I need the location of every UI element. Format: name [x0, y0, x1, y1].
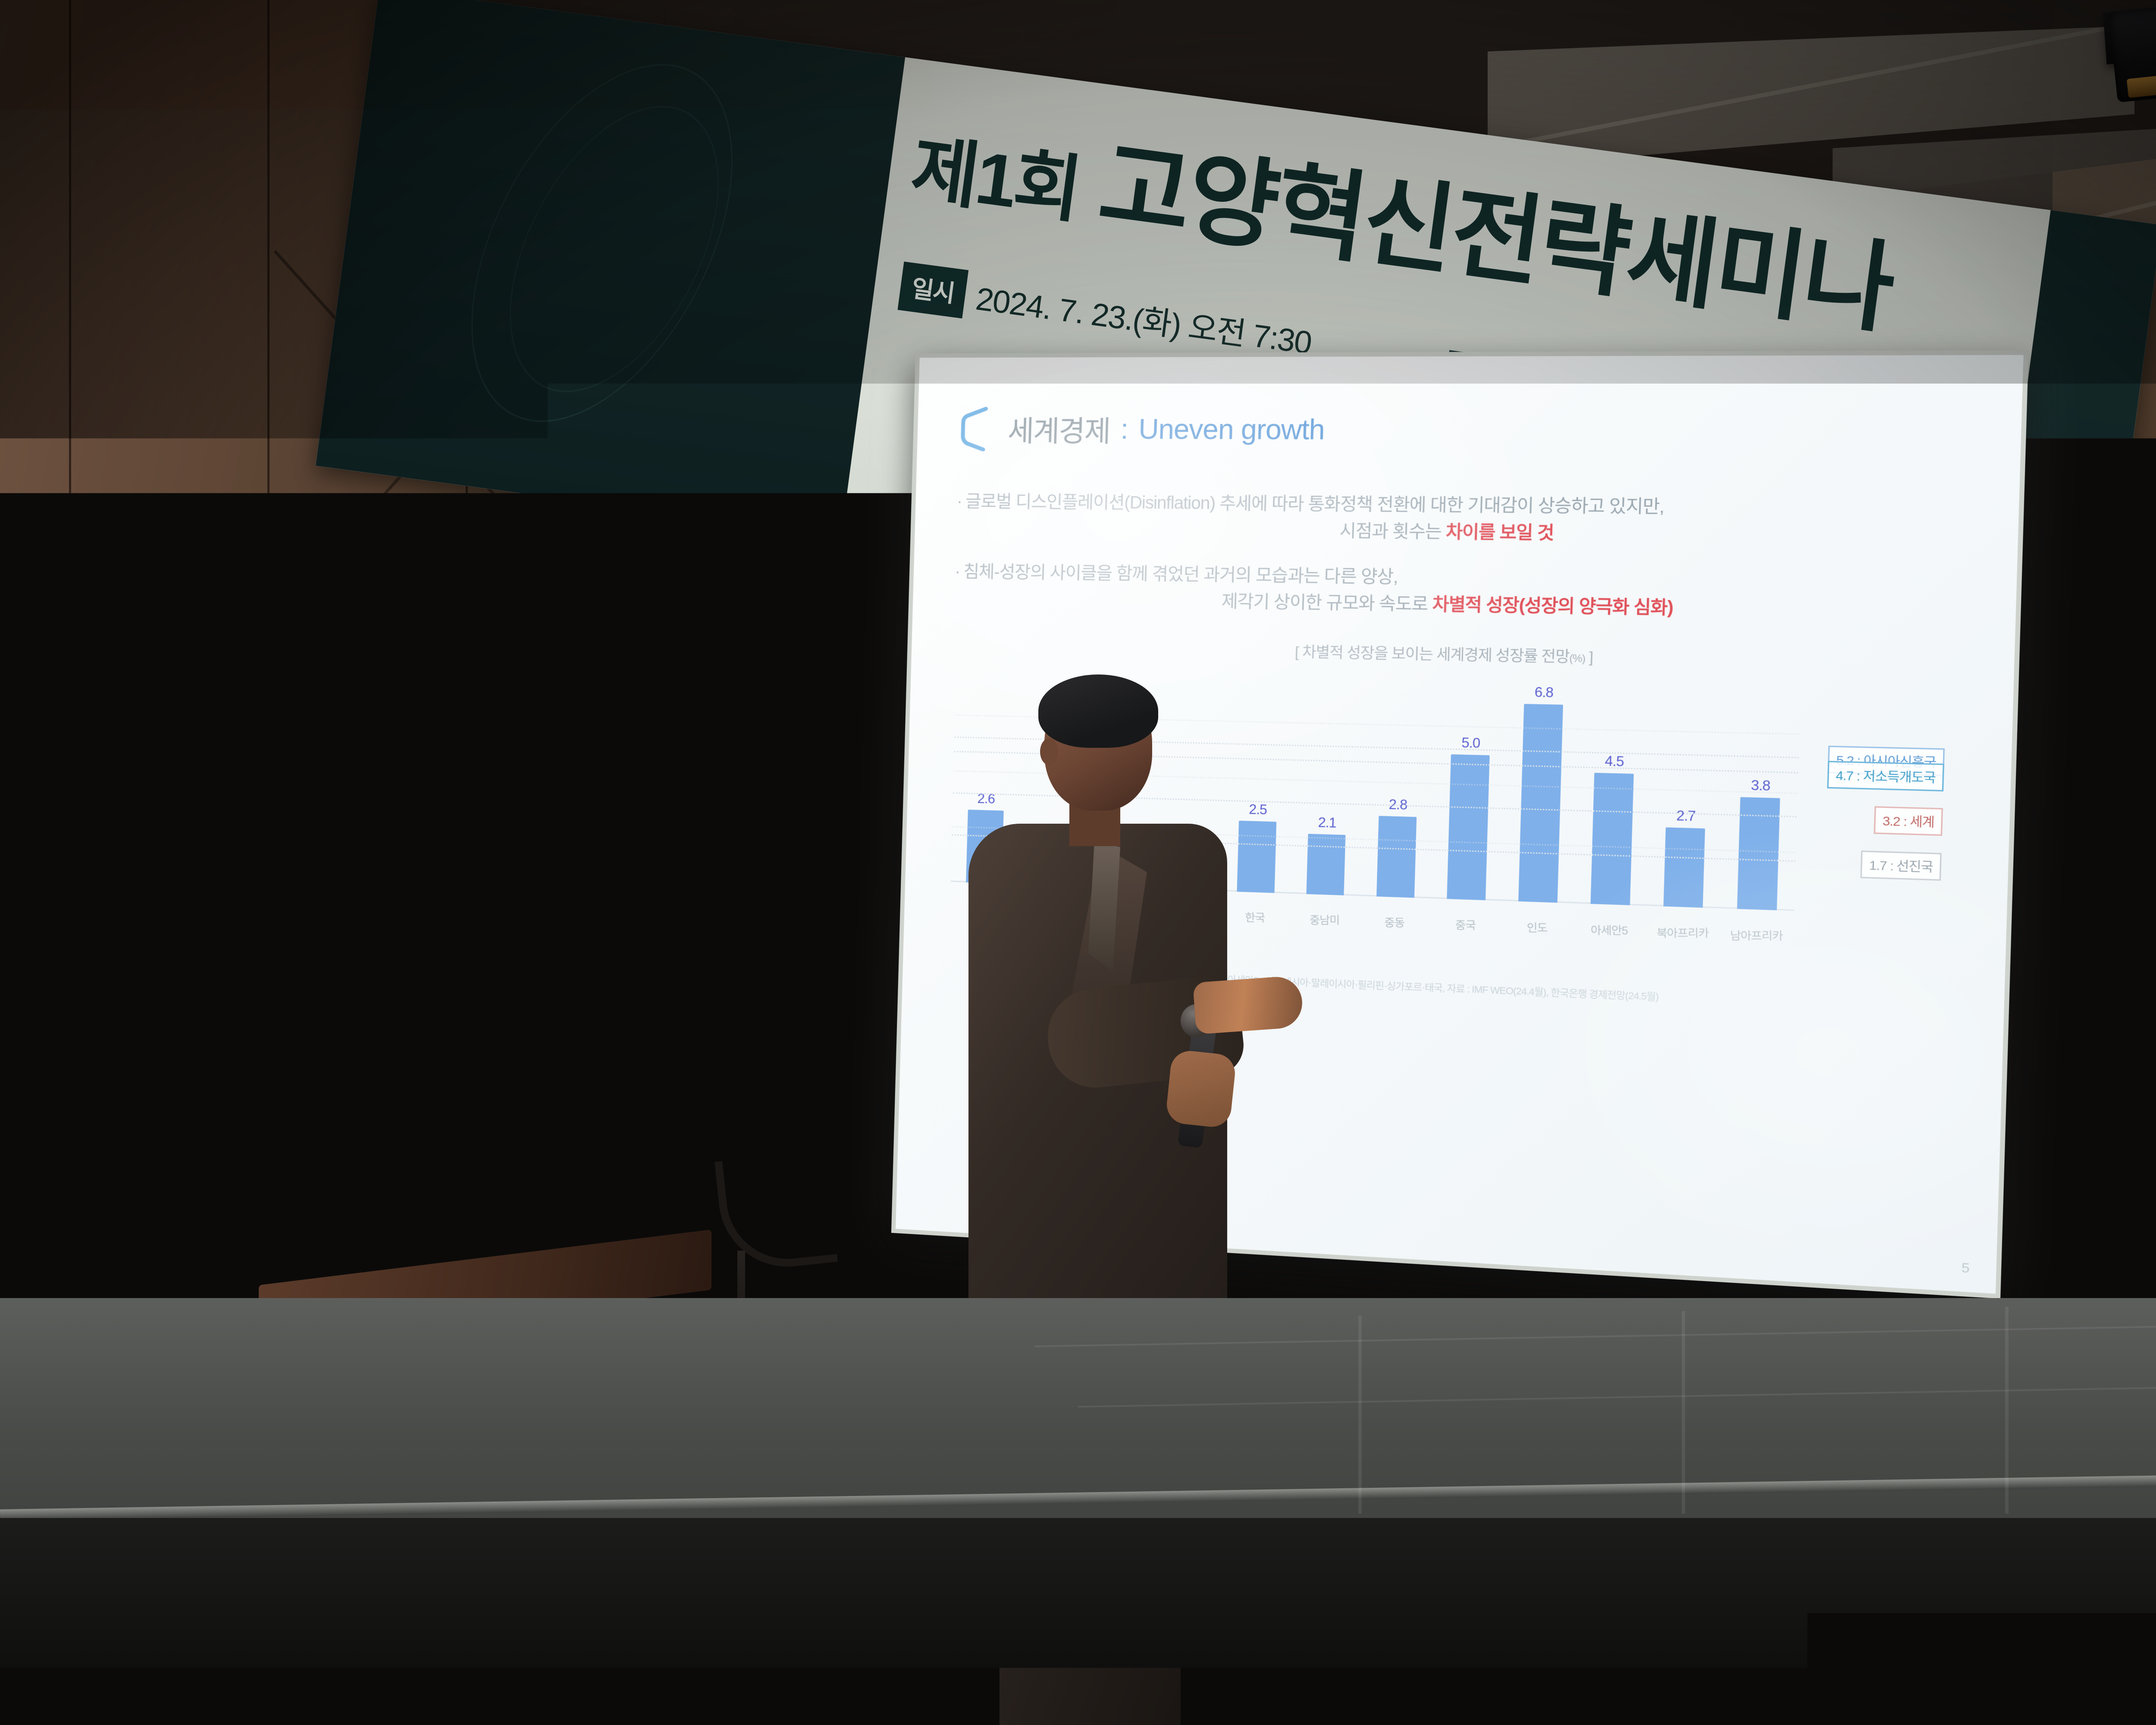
- chart-legend-item: 4.7 : 저소득개도국: [1827, 761, 1944, 791]
- bullet-1-emphasis: 차이를 보일 것: [1445, 522, 1554, 543]
- chart-x-tick-label: 중국: [1455, 916, 1476, 933]
- bullet-1-line-1: 글로벌 디스인플레이션(Disinflation) 추세에 따라 통화정책 전환…: [965, 492, 1664, 517]
- chart-x-tick-label: 인도: [1527, 919, 1548, 935]
- floor-seam: [2005, 1307, 2009, 1514]
- microphone-gooseneck: [714, 1150, 838, 1273]
- floor-foreground: [0, 1518, 2156, 1725]
- slide-bullet-2: ·침체-성장의 사이클을 함께 겪었던 과거의 모습과는 다른 양상, 제각기 …: [954, 558, 1970, 626]
- chart-x-tick-label: 북아프리카: [1656, 924, 1708, 941]
- chart-bar-group: 3.8남아프리카: [1720, 687, 1801, 911]
- chart-x-tick-label: 남아프리카: [1730, 927, 1783, 944]
- slide-page-number: 5: [1961, 1260, 1970, 1276]
- banner-date-value: 2024. 7. 23.(화) 오전 7:30: [973, 273, 1314, 364]
- slide-title-korean: 세계경제: [1007, 408, 1111, 450]
- bullet-2-line-1: 침체-성장의 사이클을 함께 겪었던 과거의 모습과는 다른 양상,: [963, 562, 1398, 587]
- speaker-ear: [1040, 738, 1058, 765]
- banner-dark-band: [316, 0, 905, 536]
- chart-caption-unit: (%): [1569, 652, 1585, 665]
- chart-bar: [1447, 755, 1490, 900]
- speaker-hand-holding-mic: [1165, 1049, 1237, 1129]
- chart-bar-group: 6.8인도: [1502, 683, 1580, 903]
- bullet-2-emphasis: 차별적 성장(성장의 양극화 심화): [1432, 595, 1673, 618]
- chart-caption-close: ]: [1585, 649, 1593, 666]
- chart-bar-group: 2.1중남미: [1290, 679, 1366, 896]
- chart-bar-group: 5.0중국: [1431, 682, 1508, 901]
- chart-bar-group: 2.8중동: [1360, 681, 1437, 898]
- slide-title-separator: :: [1120, 413, 1128, 445]
- banner-title-prefix: 제1회: [907, 128, 1084, 232]
- bullet-2-line-2-plain: 제각기 상이한 규모와 속도로: [1221, 592, 1432, 614]
- chart-bar: [1591, 773, 1634, 906]
- chart-bar-group: 2.7북아프리카: [1647, 686, 1727, 908]
- chart-x-tick-label: 아세안5: [1591, 922, 1628, 938]
- slide-header: 세계경제 : Uneven growth: [958, 406, 1974, 455]
- chart-legend-item: 3.2 : 세계: [1874, 806, 1943, 836]
- chart-bar-value-label: 2.7: [1676, 808, 1695, 825]
- bullet-1-line-2-plain: 시점과 횟수는: [1339, 521, 1446, 542]
- speaker-hair: [1038, 674, 1158, 748]
- chart-bar: [1376, 816, 1417, 898]
- banner-date-row: 일시 2024. 7. 23.(화) 오전 7:30: [898, 261, 1315, 364]
- speaker-hand-gesture: [1193, 975, 1304, 1034]
- chart-bar-value-label: 6.8: [1534, 684, 1553, 701]
- bullet-marker: ·: [956, 492, 962, 511]
- floor-seam: [1358, 1315, 1362, 1514]
- chart-caption-text: [ 차별적 성장을 보이는 세계경제 성장률 전망: [1294, 644, 1570, 666]
- chart-bar: [1664, 827, 1705, 908]
- photo-scene: 제1회 고양혁신전략세미나 고양특례시 지역경제 상생혁신 일시 2024. 7…: [0, 0, 2156, 1725]
- banner-date-tag: 일시: [898, 261, 969, 318]
- chart-bar-value-label: 2.1: [1318, 815, 1336, 831]
- bullet-marker: ·: [955, 562, 960, 581]
- chart-legend-item: 1.7 : 선진국: [1861, 851, 1942, 881]
- chart-bar-group: 4.5아세안5: [1574, 685, 1653, 906]
- floor-seam: [1682, 1311, 1685, 1514]
- chart-bar: [1518, 704, 1563, 903]
- chart-x-tick-label: 중남미: [1310, 912, 1339, 928]
- slide-title-english: Uneven growth: [1138, 413, 1325, 446]
- bracket-icon: [958, 406, 1001, 452]
- chart-bar: [1737, 797, 1780, 910]
- microphone-boom-arm: [604, 1084, 750, 1148]
- chart-legend: 5.2 : 아시아신흥국4.7 : 저소득개도국3.2 : 세계1.7 : 선진…: [1799, 675, 1946, 956]
- chart-bar: [1306, 834, 1345, 895]
- slide-bullet-1: ·글로벌 디스인플레이션(Disinflation) 추세에 따라 통화정책 전…: [956, 489, 1972, 551]
- chart-x-tick-label: 중동: [1385, 914, 1405, 930]
